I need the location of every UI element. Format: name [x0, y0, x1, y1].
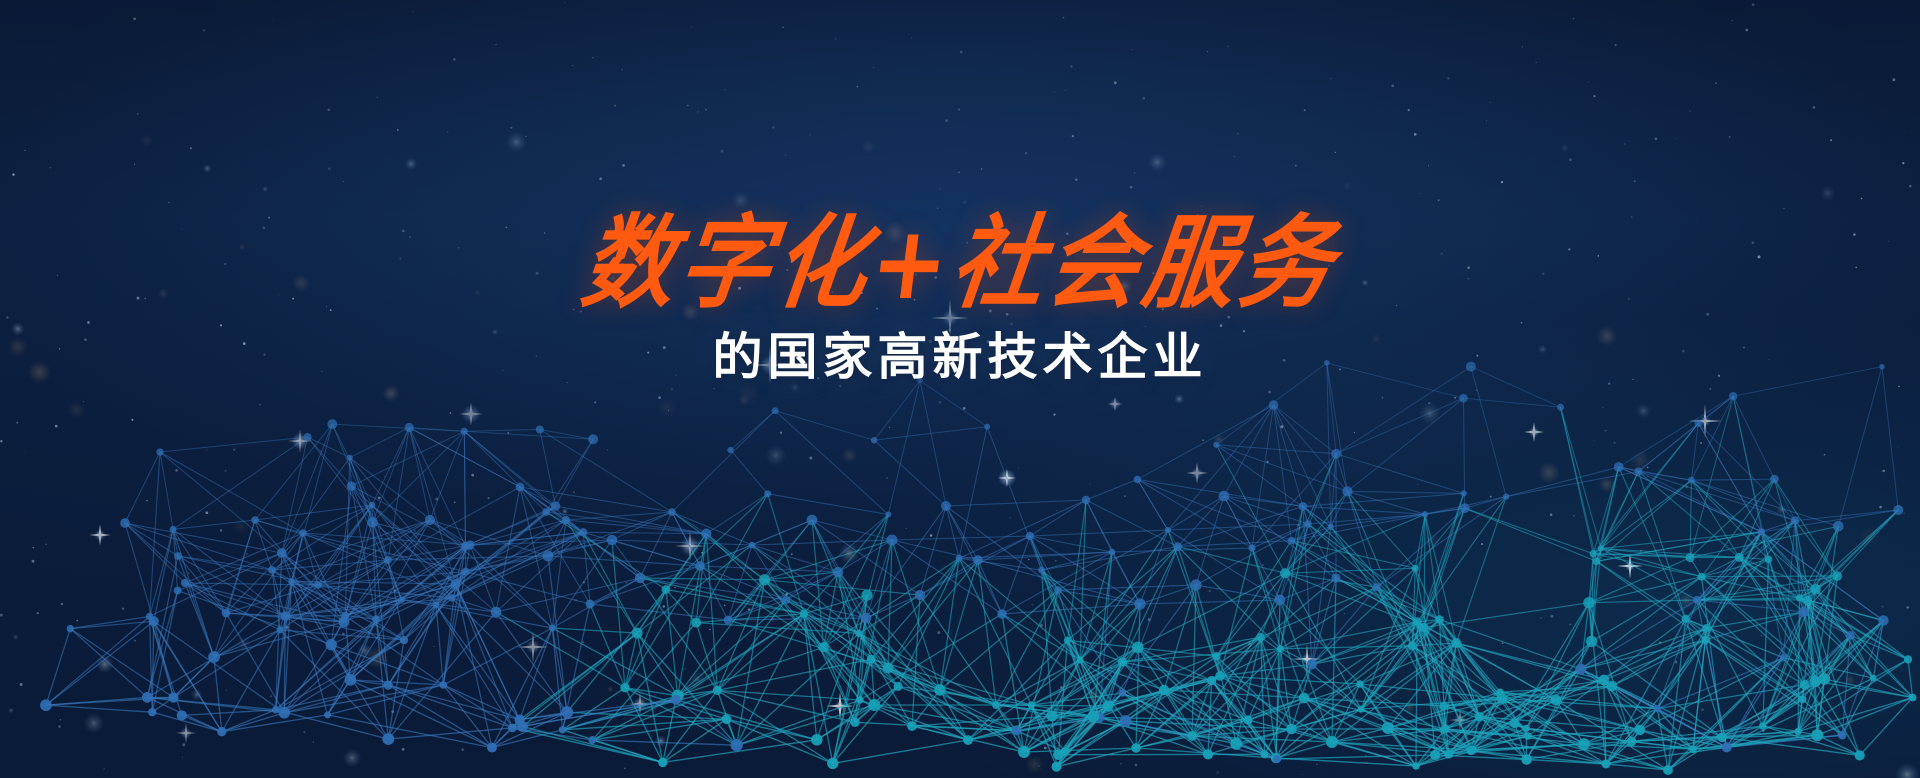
hero-text-block: 数字化+社会服务 的国家高新技术企业	[0, 218, 1920, 385]
page-title: 数字化+社会服务	[577, 213, 1343, 314]
page-subtitle: 的国家高新技术企业	[0, 330, 1920, 385]
hero-banner: 数字化+社会服务 的国家高新技术企业	[0, 0, 1920, 778]
